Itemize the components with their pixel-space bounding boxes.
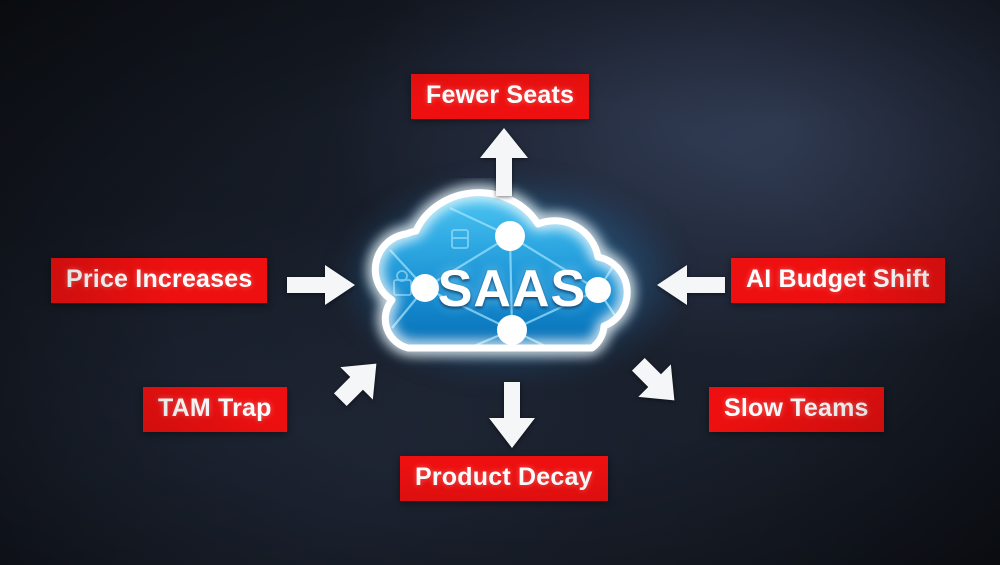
diagram-canvas: SAAS Fewer Seats Price Increases AI Budg… bbox=[0, 0, 1000, 565]
label-product-decay[interactable]: Product Decay bbox=[400, 456, 608, 501]
arrow-down-icon bbox=[487, 380, 537, 450]
arrow-right-icon bbox=[285, 263, 357, 307]
label-slow-teams[interactable]: Slow Teams bbox=[709, 387, 884, 432]
arrow-down-right-icon bbox=[625, 354, 687, 410]
arrow-up-icon bbox=[478, 126, 530, 198]
arrow-left-icon bbox=[655, 263, 727, 307]
label-tam-trap[interactable]: TAM Trap bbox=[143, 387, 287, 432]
label-price-increases[interactable]: Price Increases bbox=[51, 258, 267, 303]
arrow-down-left-icon bbox=[327, 354, 389, 410]
label-fewer-seats[interactable]: Fewer Seats bbox=[411, 74, 589, 119]
cloud-network-icon bbox=[330, 178, 690, 378]
saas-cloud-group: SAAS bbox=[330, 178, 690, 378]
label-ai-budget-shift[interactable]: AI Budget Shift bbox=[731, 258, 945, 303]
